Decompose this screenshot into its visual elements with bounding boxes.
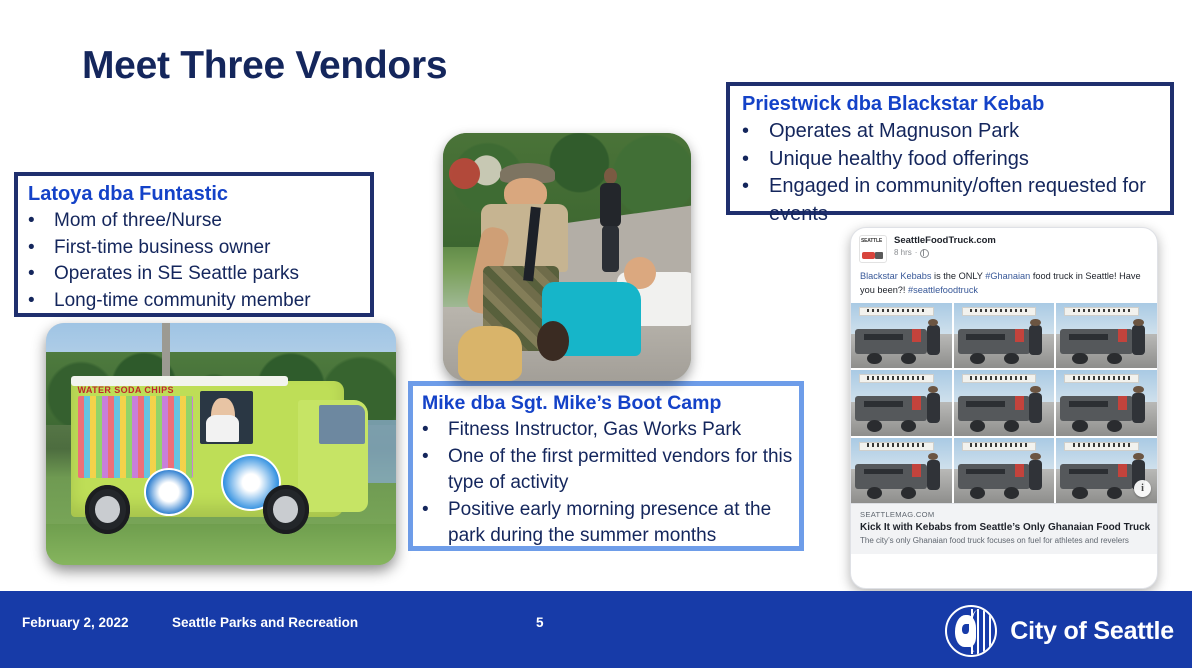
list-item-text: First-time business owner — [54, 235, 362, 262]
list-item-text: Long-time community member — [54, 288, 362, 315]
truck-wheel-front — [263, 485, 309, 533]
truck-windshield — [319, 405, 365, 444]
list-item: • Unique healthy food offerings — [742, 146, 1164, 174]
post-hashtag-seattlefoodtruck[interactable]: #seattlefoodtruck — [908, 285, 978, 295]
list-item-text: Mom of three/Nurse — [54, 208, 362, 235]
list-item-text: Operates at Magnuson Park — [769, 118, 1164, 146]
vendor-callout-mike: Mike dba Sgt. Mike’s Boot Camp • Fitness… — [408, 381, 804, 551]
truck-signage-text: WATER SODA CHIPS — [78, 385, 174, 395]
footer-organization: Seattle Parks and Recreation — [172, 615, 358, 630]
photo-runner — [597, 168, 624, 272]
truck-wheel-rear — [85, 485, 131, 533]
avatar-label: SEATTLE — [861, 238, 882, 244]
facebook-post-meta: 8 hrs · — [894, 247, 996, 259]
grid-photo — [851, 370, 952, 435]
bullet-glyph: • — [742, 118, 769, 146]
list-item: • Fitness Instructor, Gas Works Park — [422, 417, 794, 444]
list-item: • Engaged in community/often requested f… — [742, 173, 1164, 228]
list-item-text: Fitness Instructor, Gas Works Park — [448, 417, 794, 444]
bullet-glyph: • — [742, 146, 769, 174]
bullet-glyph: • — [28, 261, 54, 288]
list-item: • First-time business owner — [28, 235, 362, 262]
bullet-glyph: • — [28, 235, 54, 262]
vendor-heading-latoya: Latoya dba Funtastic — [28, 182, 362, 207]
footer-date: February 2, 2022 — [22, 615, 129, 630]
facebook-photo-grid[interactable]: i — [851, 303, 1157, 503]
list-item-text: Positive early morning presence at the p… — [448, 497, 794, 550]
list-item-text: Operates in SE Seattle parks — [54, 261, 362, 288]
link-description: The city’s only Ghanaian food truck focu… — [860, 535, 1148, 547]
facebook-post-header: SEATTLE SeattleFoodTruck.com 8 hrs · — [851, 228, 1157, 265]
facebook-post-card: SEATTLE SeattleFoodTruck.com 8 hrs · Bla… — [850, 227, 1158, 589]
vendor-callout-latoya: Latoya dba Funtastic • Mom of three/Nurs… — [14, 172, 374, 317]
grid-photo — [851, 303, 952, 368]
list-item-text: Engaged in community/often requested for… — [769, 173, 1164, 228]
truck-vendor-person — [211, 398, 236, 442]
truck-decal-left — [144, 468, 194, 516]
grid-photo — [1056, 370, 1157, 435]
vendor-heading-mike: Mike dba Sgt. Mike’s Boot Camp — [422, 391, 794, 416]
slide-footer: February 2, 2022 Seattle Parks and Recre… — [0, 591, 1192, 668]
post-hashtag-ghanaian[interactable]: #Ghanaian — [985, 271, 1030, 281]
facebook-link-preview[interactable]: SEATTLEMAG.COM Kick It with Kebabs from … — [851, 503, 1157, 554]
vendor-callout-priestwick: Priestwick dba Blackstar Kebab • Operate… — [726, 82, 1174, 215]
grid-photo — [954, 370, 1055, 435]
post-text-link[interactable]: Blackstar Kebabs — [860, 271, 932, 281]
grid-photo — [1056, 303, 1157, 368]
facebook-page-name[interactable]: SeattleFoodTruck.com — [894, 235, 996, 247]
bullet-glyph: • — [742, 173, 769, 201]
grid-photo — [851, 438, 952, 503]
info-badge-icon[interactable]: i — [1134, 480, 1151, 497]
grid-photo — [954, 303, 1055, 368]
list-item: • Operates at Magnuson Park — [742, 118, 1164, 146]
vendor-bullet-list-mike: • Fitness Instructor, Gas Works Park • O… — [422, 417, 794, 550]
photo-ice-cream-truck: WATER SODA CHIPS — [46, 323, 396, 565]
grid-photo: i — [1056, 438, 1157, 503]
grid-photo — [954, 438, 1055, 503]
city-of-seattle-logo: City of Seattle — [945, 605, 1174, 657]
truck-menu-board — [78, 396, 194, 478]
bullet-glyph: • — [422, 497, 448, 524]
bullet-glyph: • — [422, 417, 448, 444]
globe-icon — [920, 249, 929, 258]
photo-participant-blonde — [458, 326, 522, 381]
post-text-1: is the ONLY — [932, 271, 986, 281]
slide-canvas: Meet Three Vendors Latoya dba Funtastic … — [0, 0, 1192, 668]
list-item: • Operates in SE Seattle parks — [28, 261, 362, 288]
brand-name: City of Seattle — [1010, 617, 1174, 646]
bullet-glyph: • — [28, 208, 54, 235]
list-item: • Positive early morning presence at the… — [422, 497, 794, 550]
post-timestamp: 8 hrs — [894, 247, 912, 259]
link-domain: SEATTLEMAG.COM — [860, 509, 1148, 520]
bullet-glyph: • — [28, 288, 54, 315]
page-title: Meet Three Vendors — [82, 44, 447, 88]
seattle-seal-icon — [945, 605, 997, 657]
facebook-post-text: Blackstar Kebabs is the ONLY #Ghanaian f… — [851, 265, 1157, 303]
footer-page-number: 5 — [536, 615, 544, 630]
vendor-bullet-list-priestwick: • Operates at Magnuson Park • Unique hea… — [742, 118, 1164, 228]
list-item-text: Unique healthy food offerings — [769, 146, 1164, 174]
link-headline[interactable]: Kick It with Kebabs from Seattle’s Only … — [860, 521, 1148, 534]
page-avatar-icon: SEATTLE — [859, 235, 887, 263]
list-item: • One of the first permitted vendors for… — [422, 444, 794, 497]
vendor-bullet-list-latoya: • Mom of three/Nurse • First-time busine… — [28, 208, 362, 314]
list-item: • Long-time community member — [28, 288, 362, 315]
photo-boot-camp — [443, 133, 691, 381]
vendor-heading-priestwick: Priestwick dba Blackstar Kebab — [742, 91, 1164, 117]
list-item-text: One of the first permitted vendors for t… — [448, 444, 794, 497]
bullet-glyph: • — [422, 444, 448, 471]
list-item: • Mom of three/Nurse — [28, 208, 362, 235]
